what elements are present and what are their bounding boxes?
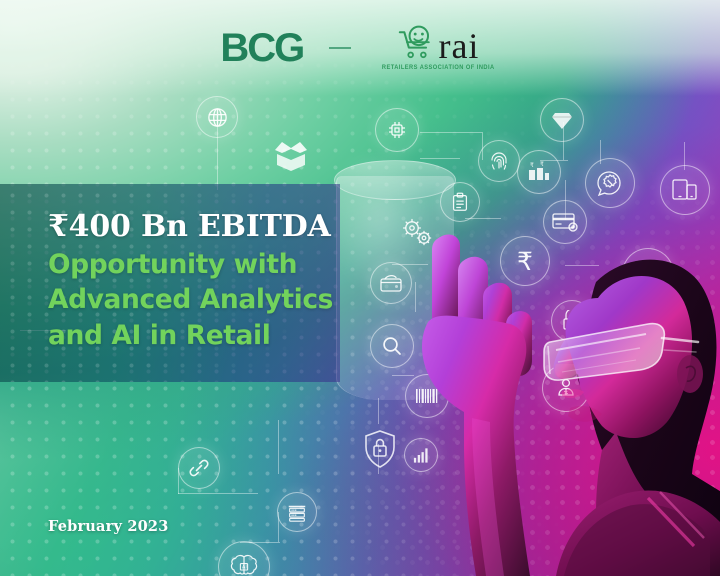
page-title: ₹400 Bn EBITDA Opportunity with Advanced… (48, 210, 348, 353)
bcg-logo: BCG (220, 28, 303, 68)
logo-separator (329, 47, 351, 49)
logo-header: BCG rai RETAILERS ASSOCIATION OF INDIA (0, 0, 720, 96)
headline-primary: ₹400 Bn EBITDA (48, 210, 348, 244)
rai-smiley-cart-icon (397, 25, 437, 63)
report-cover: ₹ ₹ (0, 0, 720, 576)
rai-logo: rai RETAILERS ASSOCIATION OF INDIA (377, 25, 499, 71)
rai-wordmark: rai (438, 30, 479, 63)
rai-subtitle: RETAILERS ASSOCIATION OF INDIA (382, 64, 495, 71)
headline-secondary: Opportunity with Advanced Analytics and … (48, 247, 348, 354)
publication-date: February 2023 (48, 518, 169, 535)
